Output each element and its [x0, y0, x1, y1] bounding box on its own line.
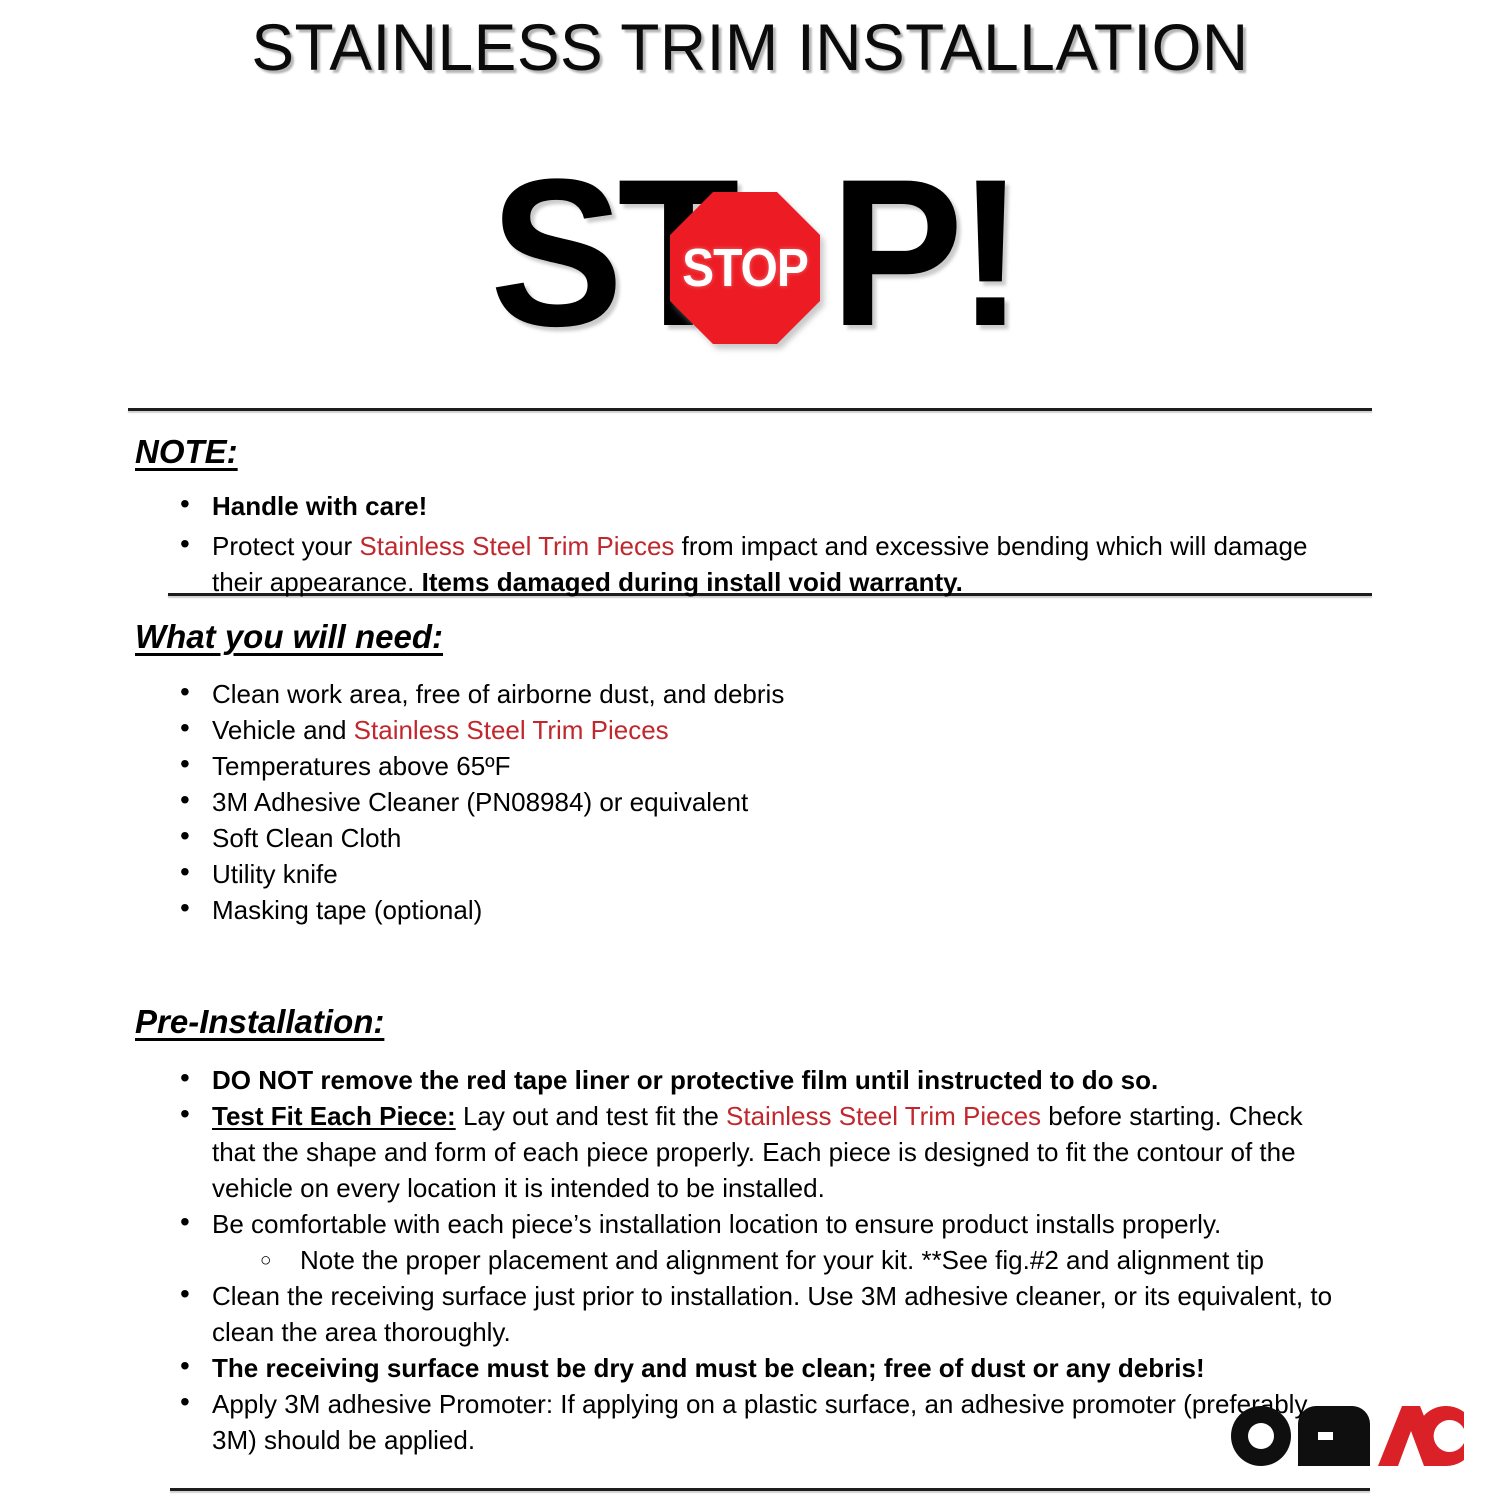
bold-text: The receiving surface must be dry and mu… — [212, 1353, 1205, 1383]
section-heading-pre-installation: Pre-Installation: — [135, 1003, 384, 1041]
body-text: Vehicle and — [212, 715, 354, 745]
body-text: Be comfortable with each piece’s install… — [212, 1209, 1221, 1239]
omac-logo-letter-m — [1298, 1406, 1370, 1466]
accent-text: Stainless Steel Trim Pieces — [726, 1101, 1041, 1131]
body-text: Soft Clean Cloth — [212, 823, 401, 853]
list-item: Temperatures above 65ºF — [180, 748, 1280, 784]
body-text: Utility knife — [212, 859, 338, 889]
list-item: Test Fit Each Piece: Lay out and test fi… — [180, 1098, 1340, 1206]
section-heading-what-you-will-need: What you will need: — [135, 618, 443, 656]
bold-underline-text: Test Fit Each Piece: — [212, 1101, 456, 1131]
list-item: Apply 3M adhesive Promoter: If applying … — [180, 1386, 1340, 1458]
list-item: Soft Clean Cloth — [180, 820, 1280, 856]
sub-list-item: Note the proper placement and alignment … — [212, 1242, 1340, 1278]
body-text: Clean the receiving surface just prior t… — [212, 1281, 1332, 1347]
body-text: Protect your — [212, 531, 359, 561]
stop-sign-icon: STOP — [668, 190, 822, 346]
list-item: Utility knife — [180, 856, 1280, 892]
list-item: Be comfortable with each piece’s install… — [180, 1206, 1340, 1278]
sub-list: Note the proper placement and alignment … — [212, 1242, 1340, 1278]
note-bullet-list: Handle with care!Protect your Stainless … — [180, 488, 1330, 604]
bold-text: Handle with care! — [212, 491, 427, 521]
list-item: Clean work area, free of airborne dust, … — [180, 676, 1280, 712]
body-text: 3M Adhesive Cleaner (PN08984) or equival… — [212, 787, 748, 817]
list-item: Protect your Stainless Steel Trim Pieces… — [180, 528, 1330, 600]
bold-text: Items damaged during install void warran… — [422, 567, 963, 597]
body-text: Apply 3M adhesive Promoter: If applying … — [212, 1389, 1307, 1455]
stop-banner-inner: ST STOP P! — [490, 178, 990, 363]
bold-text: DO NOT remove the red tape liner or prot… — [212, 1065, 1158, 1095]
stop-sign-label: STOP — [668, 181, 822, 356]
body-text: Clean work area, free of airborne dust, … — [212, 679, 784, 709]
body-text: Masking tape (optional) — [212, 895, 482, 925]
list-item: The receiving surface must be dry and mu… — [180, 1350, 1340, 1386]
omac-logo — [1230, 1398, 1465, 1468]
needs-bullet-list: Clean work area, free of airborne dust, … — [180, 676, 1280, 928]
page-title: STAINLESS TRIM INSTALLATION — [23, 14, 1478, 80]
list-item: Clean the receiving surface just prior t… — [180, 1278, 1340, 1350]
section-heading-note: NOTE: — [135, 433, 238, 471]
accent-text: Stainless Steel Trim Pieces — [354, 715, 669, 745]
omac-logo-letter-o — [1231, 1406, 1291, 1466]
body-text: Lay out and test fit the — [456, 1101, 726, 1131]
list-item: Vehicle and Stainless Steel Trim Pieces — [180, 712, 1280, 748]
list-item: 3M Adhesive Cleaner (PN08984) or equival… — [180, 784, 1280, 820]
list-item: DO NOT remove the red tape liner or prot… — [180, 1062, 1340, 1098]
accent-text: Stainless Steel Trim Pieces — [359, 531, 674, 561]
list-item: Masking tape (optional) — [180, 892, 1280, 928]
list-item: Handle with care! — [180, 488, 1330, 524]
divider-top — [128, 408, 1372, 411]
stop-banner: ST STOP P! — [0, 178, 1500, 363]
stop-banner-right-text: P! — [830, 156, 1018, 350]
pre-installation-bullet-list: DO NOT remove the red tape liner or prot… — [180, 1062, 1340, 1458]
divider-bottom — [170, 1488, 1370, 1491]
body-text: Note the proper placement and alignment … — [300, 1245, 1264, 1275]
body-text: Temperatures above 65ºF — [212, 751, 511, 781]
